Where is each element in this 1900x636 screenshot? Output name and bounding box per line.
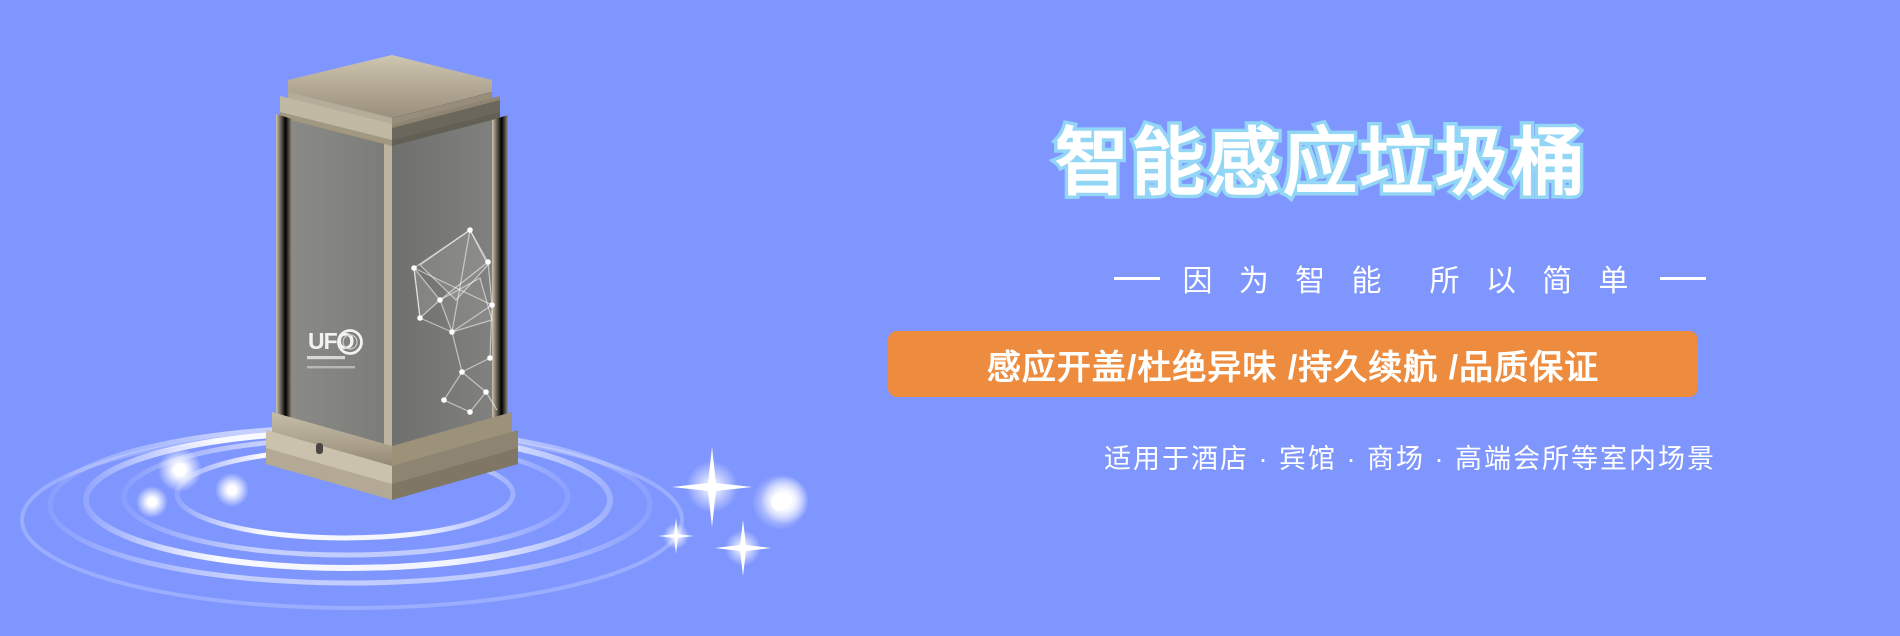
sparkle-star-1 xyxy=(672,447,752,527)
feature-highlight-text: 感应开盖/杜绝异味 /持久续航 /品质保证 xyxy=(987,340,1599,389)
subtitle-text: 因 为 智 能 所 以 简 单 xyxy=(1182,256,1637,300)
sparkle-glow-3 xyxy=(752,474,808,530)
subtitle-rule-right xyxy=(1660,277,1706,280)
product-banner: UFO xyxy=(0,0,1900,636)
subtitle-row: 因 为 智 能 所 以 简 单 xyxy=(880,256,1900,300)
text-block: 智能感应垃圾桶 智能感应垃圾桶 因 为 智 能 所 以 简 单 感应开盖/杜绝异… xyxy=(880,0,1900,636)
usage-scenario-text: 适用于酒店 · 宾馆 · 商场 · 高端会所等室内场景 xyxy=(880,437,1900,476)
feature-highlight-bar: 感应开盖/杜绝异味 /持久续航 /品质保证 xyxy=(888,331,1698,397)
sparkles xyxy=(0,0,900,636)
sparkle-star-4 xyxy=(658,518,694,554)
page-title: 智能感应垃圾桶 xyxy=(1055,126,1587,200)
product-scene: UFO xyxy=(0,0,900,636)
subtitle-rule-left xyxy=(1114,277,1160,280)
sparkle-star-2 xyxy=(715,520,771,576)
